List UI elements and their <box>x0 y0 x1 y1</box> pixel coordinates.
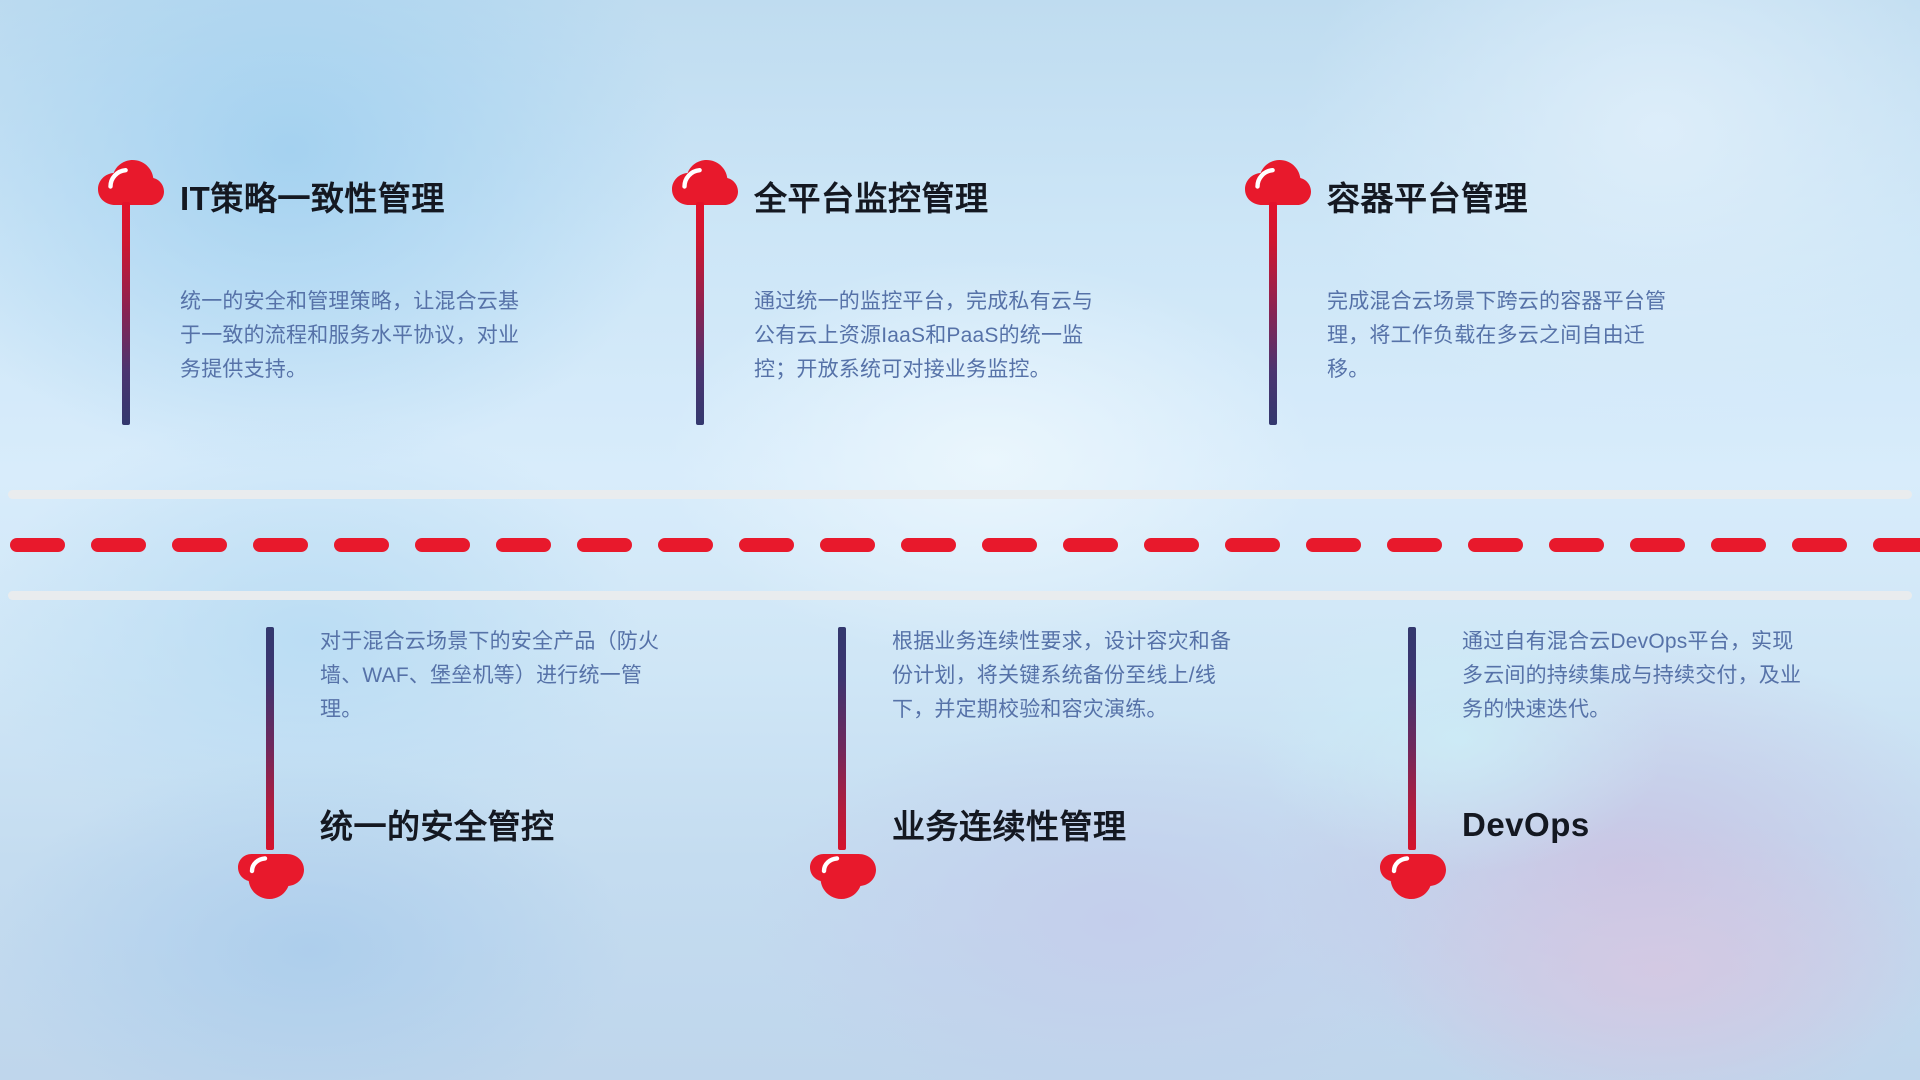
divider-dash <box>658 538 713 552</box>
cloud-icon <box>672 160 738 206</box>
top-column-3-heading: 容器平台管理 <box>1327 182 1528 215</box>
connector-stem <box>122 202 130 425</box>
divider-dashed-line <box>0 538 1920 552</box>
bottom-column-2-body: 根据业务连续性要求，设计容灾和备份计划，将关键系统备份至线上/线下，并定期校验和… <box>892 625 1252 727</box>
divider-dash <box>1711 538 1766 552</box>
top-column-3-body: 完成混合云场景下跨云的容器平台管理，将工作负载在多云之间自由迁移。 <box>1327 285 1677 387</box>
connector-stem <box>1408 627 1416 850</box>
divider-dash <box>1630 538 1685 552</box>
bottom-column-2: 根据业务连续性要求，设计容灾和备份计划，将关键系统备份至线上/线下，并定期校验和… <box>822 625 1292 945</box>
bottom-column-3: 通过自有混合云DevOps平台，实现多云间的持续集成与持续交付，及业务的快速迭代… <box>1392 625 1862 945</box>
bottom-column-2-heading: 业务连续性管理 <box>892 810 1127 843</box>
connector-stem <box>838 627 846 850</box>
divider-dash <box>496 538 551 552</box>
divider-dash <box>820 538 875 552</box>
divider-dash <box>982 538 1037 552</box>
divider-dash <box>253 538 308 552</box>
divider-dash <box>901 538 956 552</box>
section-divider <box>0 490 1920 600</box>
divider-dash <box>739 538 794 552</box>
divider-dash <box>1144 538 1199 552</box>
top-column-1-heading: IT策略一致性管理 <box>180 182 445 215</box>
divider-dash <box>1306 538 1361 552</box>
divider-dash <box>1792 538 1847 552</box>
top-column-2-body: 通过统一的监控平台，完成私有云与公有云上资源IaaS和PaaS的统一监控；开放系… <box>754 285 1106 387</box>
bottom-column-3-heading: DevOps <box>1462 808 1590 841</box>
top-column-2: 全平台监控管理 通过统一的监控平台，完成私有云与公有云上资源IaaS和PaaS的… <box>672 160 1142 490</box>
divider-dash <box>1387 538 1442 552</box>
divider-dash <box>172 538 227 552</box>
connector-stem <box>1269 202 1277 425</box>
cloud-icon <box>1245 160 1311 206</box>
infographic-canvas: IT策略一致性管理 统一的安全和管理策略，让混合云基于一致的流程和服务水平协议，… <box>0 0 1920 1080</box>
divider-dash <box>577 538 632 552</box>
bottom-column-1-body: 对于混合云场景下的安全产品（防火墙、WAF、堡垒机等）进行统一管理。 <box>320 625 680 727</box>
divider-dash <box>1225 538 1280 552</box>
divider-dash <box>1549 538 1604 552</box>
top-column-1: IT策略一致性管理 统一的安全和管理策略，让混合云基于一致的流程和服务水平协议，… <box>98 160 558 490</box>
divider-rule-top <box>8 490 1912 499</box>
top-column-1-body: 统一的安全和管理策略，让混合云基于一致的流程和服务水平协议，对业务提供支持。 <box>180 285 530 387</box>
cloud-icon <box>238 853 304 899</box>
bottom-column-3-body: 通过自有混合云DevOps平台，实现多云间的持续集成与持续交付，及业务的快速迭代… <box>1462 625 1812 727</box>
cloud-icon <box>1380 853 1446 899</box>
divider-rule-bottom <box>8 591 1912 600</box>
connector-stem <box>266 627 274 850</box>
divider-dash <box>1468 538 1523 552</box>
divider-dash <box>1063 538 1118 552</box>
bottom-column-1-heading: 统一的安全管控 <box>320 810 555 843</box>
divider-dash <box>415 538 470 552</box>
divider-dash <box>1873 538 1920 552</box>
cloud-icon <box>810 853 876 899</box>
connector-stem <box>696 202 704 425</box>
bottom-column-1: 对于混合云场景下的安全产品（防火墙、WAF、堡垒机等）进行统一管理。 统一的安全… <box>250 625 720 945</box>
cloud-icon <box>98 160 164 206</box>
divider-dash <box>334 538 389 552</box>
divider-dash <box>10 538 65 552</box>
top-column-3: 容器平台管理 完成混合云场景下跨云的容器平台管理，将工作负载在多云之间自由迁移。 <box>1245 160 1715 490</box>
divider-dash <box>91 538 146 552</box>
top-column-2-heading: 全平台监控管理 <box>754 182 989 215</box>
